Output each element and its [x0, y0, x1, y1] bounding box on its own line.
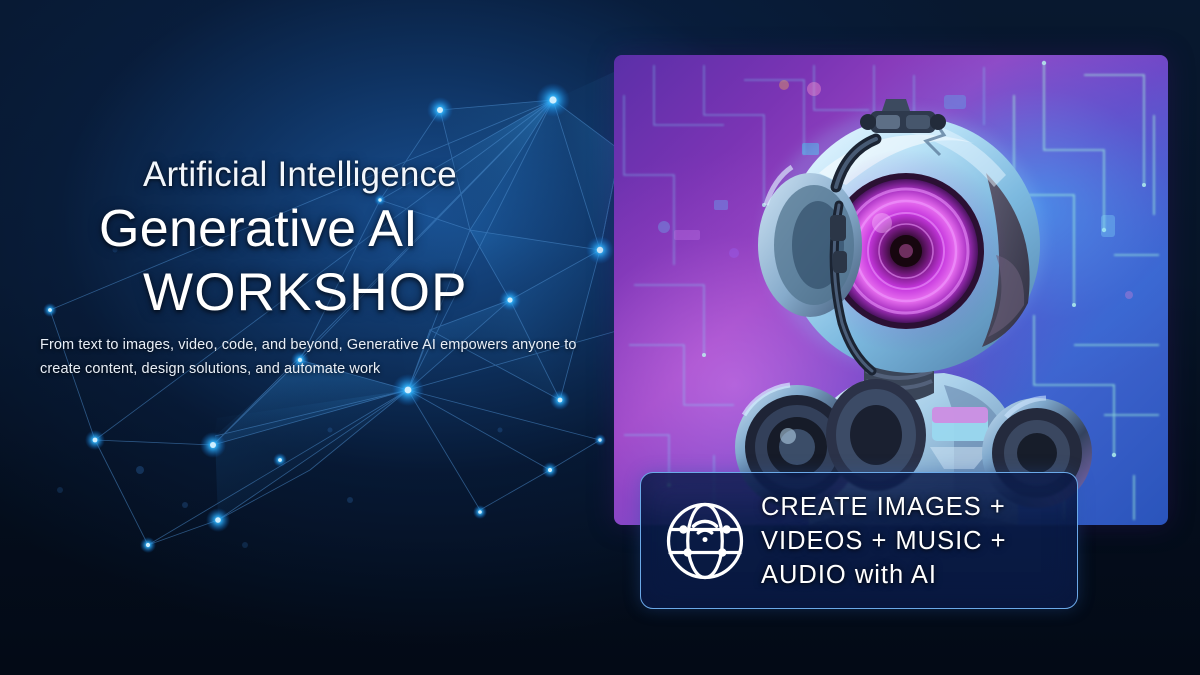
- banner-line-1: CREATE IMAGES +: [761, 490, 1063, 524]
- banner-text: CREATE IMAGES + VIDEOS + MUSIC + AUDIO w…: [761, 490, 1077, 592]
- description-text: From text to images, video, code, and be…: [40, 333, 585, 381]
- page-title-line2: WORKSHOP: [143, 262, 468, 323]
- page-title-line1: Generative AI: [99, 199, 418, 259]
- robot-figure: [614, 55, 1168, 525]
- poster-text-block: Artificial Intelligence Generative AI WO…: [0, 0, 600, 675]
- banner-line-3: AUDIO with AI: [761, 558, 1063, 592]
- globe-wifi-network-icon: [649, 493, 761, 589]
- robot-artwork: [614, 55, 1168, 525]
- banner-line-2: VIDEOS + MUSIC +: [761, 524, 1063, 558]
- feature-banner: CREATE IMAGES + VIDEOS + MUSIC + AUDIO w…: [640, 472, 1078, 609]
- poster-canvas: Artificial Intelligence Generative AI WO…: [0, 0, 1200, 675]
- eyebrow-heading: Artificial Intelligence: [143, 155, 457, 195]
